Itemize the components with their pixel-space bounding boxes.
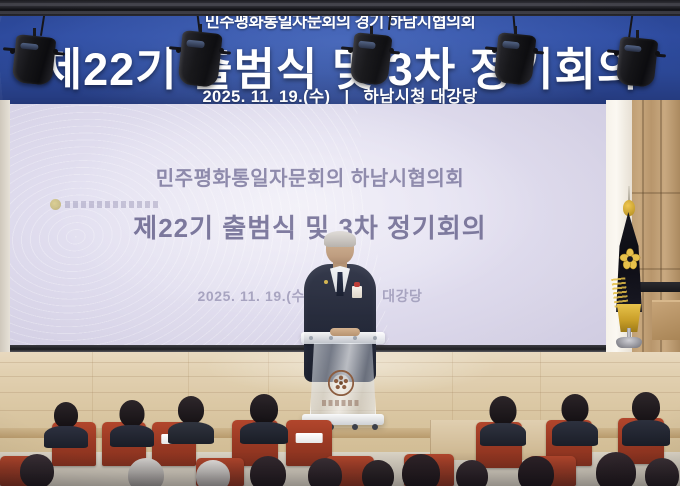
lapel-pin-icon [324,280,328,284]
stage-spotlight [14,28,54,84]
audience-person [298,458,352,486]
audience-person [446,460,498,486]
audience-person [118,458,174,486]
audience-person [622,392,670,446]
audience-person [186,460,240,486]
logo-wordmark [65,201,158,208]
left-wall [0,100,10,352]
audience-person [240,394,288,444]
banner-separator: | [344,88,349,104]
audience-person [240,456,296,486]
banner-date-location: 2025. 11. 19.(수)|하남시청 대강당 [0,83,680,104]
flag-stand [616,328,642,350]
audience-person [44,402,88,446]
stage-spotlight [618,30,656,86]
audience-person [110,400,154,446]
flag-finial-icon [623,200,635,216]
photograph-scene: 민주평화통일자문회의 경기 하남시협의회 제22기 출범식 및 3차 정기회의 … [0,0,680,486]
lighting-truss [0,0,680,16]
audience-person [392,454,450,486]
speaker-hair [324,231,356,247]
audience-person [10,454,64,486]
audience-person [168,396,214,444]
audience-person [552,394,598,446]
slide-organization-line: 민주평화통일자문회의 하남시협의회 [8,162,612,191]
banner-date-text: 2025. 11. 19.(수) [202,88,330,104]
stage-spotlight [352,26,390,84]
stage-spotlight [180,24,220,86]
stage-spotlight [496,26,534,84]
audience-area [0,400,680,486]
banner-location-text: 하남시청 대강당 [363,88,477,104]
organization-flag [598,186,658,352]
flag-emblem-icon [619,248,641,270]
speaker-hands [330,328,360,336]
badge-ribbon-icon [354,282,360,287]
audience-person [480,396,526,446]
audience-person [508,456,564,486]
speaker-name-badge [352,286,362,298]
lectern-city-emblem-icon [328,370,354,396]
audience-person [636,458,680,486]
